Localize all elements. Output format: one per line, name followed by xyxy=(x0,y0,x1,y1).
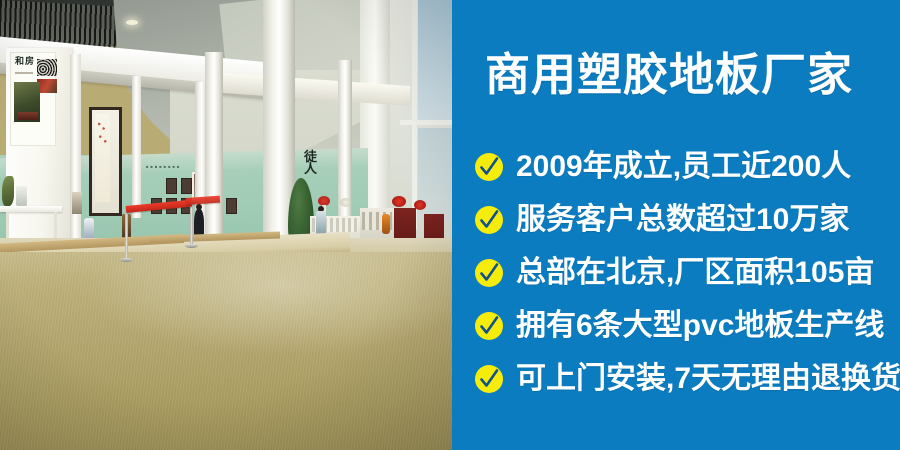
feature-list: 2009年成立,员工近200人 服务客户总数超过10万家 xyxy=(474,140,892,405)
check-circle-icon xyxy=(474,311,504,341)
list-item-label: 可上门安装,7天无理由退换货 xyxy=(516,364,900,394)
list-item: 服务客户总数超过10万家 xyxy=(474,193,892,246)
list-item-label: 拥有6条大型pvc地板生产线 xyxy=(516,311,884,341)
panel-title: 商用塑胶地板厂家 xyxy=(452,52,886,97)
list-item-label: 服务客户总数超过10万家 xyxy=(516,205,849,235)
check-circle-icon xyxy=(474,364,504,394)
list-item: 可上门安装,7天无理由退换货 xyxy=(474,352,892,405)
list-item: 2009年成立,员工近200人 xyxy=(474,140,892,193)
check-circle-icon xyxy=(474,152,504,182)
list-item: 总部在北京,厂区面积105亩 xyxy=(474,246,892,299)
photo-vignette xyxy=(0,0,452,450)
promo-banner: ■■■■■■■■ 徒人 和房 xyxy=(0,0,900,450)
info-panel: 商用塑胶地板厂家 2009年成立,员工近200人 xyxy=(452,0,900,450)
check-circle-icon xyxy=(474,205,504,235)
list-item: 拥有6条大型pvc地板生产线 xyxy=(474,299,892,352)
check-circle-icon xyxy=(474,258,504,288)
showroom-photo: ■■■■■■■■ 徒人 和房 xyxy=(0,0,452,450)
list-item-label: 2009年成立,员工近200人 xyxy=(516,152,851,182)
list-item-label: 总部在北京,厂区面积105亩 xyxy=(516,258,874,288)
